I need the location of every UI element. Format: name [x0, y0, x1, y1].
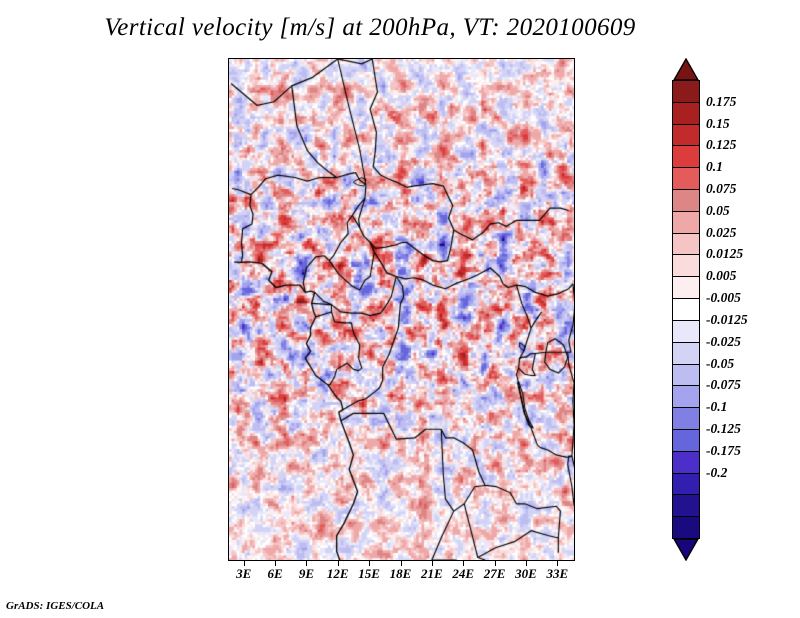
colorbar-high-arrow [672, 58, 700, 80]
colorbar-tick-label: -0.05 [706, 356, 734, 372]
colorbar-swatch [672, 80, 700, 103]
x-tick-label: 9E [299, 566, 314, 582]
colorbar-swatch [672, 407, 700, 430]
x-tick-mark [369, 560, 370, 566]
colorbar-tick-label: 0.05 [706, 203, 730, 219]
colorbar-swatch [672, 429, 700, 452]
colorbar-swatch [672, 342, 700, 365]
colorbar-tick-label: -0.075 [706, 377, 741, 393]
colorbar-tick-label: 0.125 [706, 137, 736, 153]
page-title: Vertical velocity [m/s] at 200hPa, VT: 2… [0, 14, 740, 42]
x-tick-mark [275, 560, 276, 566]
colorbar-swatch [672, 189, 700, 212]
colorbar-tick-label: -0.025 [706, 334, 741, 350]
colorbar-swatch [672, 473, 700, 496]
colorbar-swatch [672, 451, 700, 474]
x-tick-mark [244, 560, 245, 566]
colorbar-tick-label: 0.005 [706, 268, 736, 284]
x-tick-mark [495, 560, 496, 566]
colorbar-tick-label: -0.0125 [706, 312, 748, 328]
map-panel [228, 58, 575, 561]
colorbar-tick-label: 0.175 [706, 94, 736, 110]
x-tick-mark [401, 560, 402, 566]
vertical-velocity-heatmap [229, 59, 574, 560]
colorbar-swatch [672, 211, 700, 234]
colorbar-tick-label: -0.1 [706, 399, 727, 415]
colorbar: 0.1750.150.1250.10.0750.050.0250.01250.0… [672, 58, 700, 560]
colorbar-tick-label: 0.15 [706, 116, 730, 132]
x-tick-label: 24E [452, 566, 474, 582]
x-tick-label: 30E [515, 566, 537, 582]
grads-attribution: GrADS: IGES/COLA [6, 600, 104, 612]
x-tick-mark [338, 560, 339, 566]
colorbar-swatch [672, 233, 700, 256]
colorbar-tick-label: 0.0125 [706, 246, 743, 262]
colorbar-swatch [672, 494, 700, 517]
colorbar-swatch [672, 124, 700, 147]
colorbar-tick-label: -0.175 [706, 443, 741, 459]
colorbar-swatch [672, 298, 700, 321]
colorbar-low-arrow [672, 538, 700, 560]
colorbar-tick-label: 0.1 [706, 159, 723, 175]
x-tick-label: 33E [546, 566, 568, 582]
colorbar-swatch [672, 385, 700, 408]
colorbar-swatch [672, 167, 700, 190]
colorbar-swatch [672, 102, 700, 125]
colorbar-swatch [672, 145, 700, 168]
x-tick-label: 12E [327, 566, 349, 582]
colorbar-tick-label: -0.005 [706, 290, 741, 306]
colorbar-tick-label: 0.075 [706, 181, 736, 197]
colorbar-swatch [672, 516, 700, 539]
x-tick-mark [526, 560, 527, 566]
colorbar-swatch [672, 364, 700, 387]
x-tick-mark [557, 560, 558, 566]
x-tick-label: 15E [358, 566, 380, 582]
colorbar-tick-label: 0.025 [706, 225, 736, 241]
colorbar-swatch [672, 254, 700, 277]
x-tick-mark [306, 560, 307, 566]
x-tick-label: 27E [484, 566, 506, 582]
x-tick-label: 6E [267, 566, 282, 582]
colorbar-swatch [672, 276, 700, 299]
x-tick-label: 3E [236, 566, 251, 582]
x-tick-label: 21E [421, 566, 443, 582]
x-tick-mark [432, 560, 433, 566]
colorbar-swatch [672, 320, 700, 343]
x-tick-label: 18E [390, 566, 412, 582]
colorbar-tick-label: -0.2 [706, 465, 727, 481]
x-tick-mark [463, 560, 464, 566]
colorbar-tick-label: -0.125 [706, 421, 741, 437]
